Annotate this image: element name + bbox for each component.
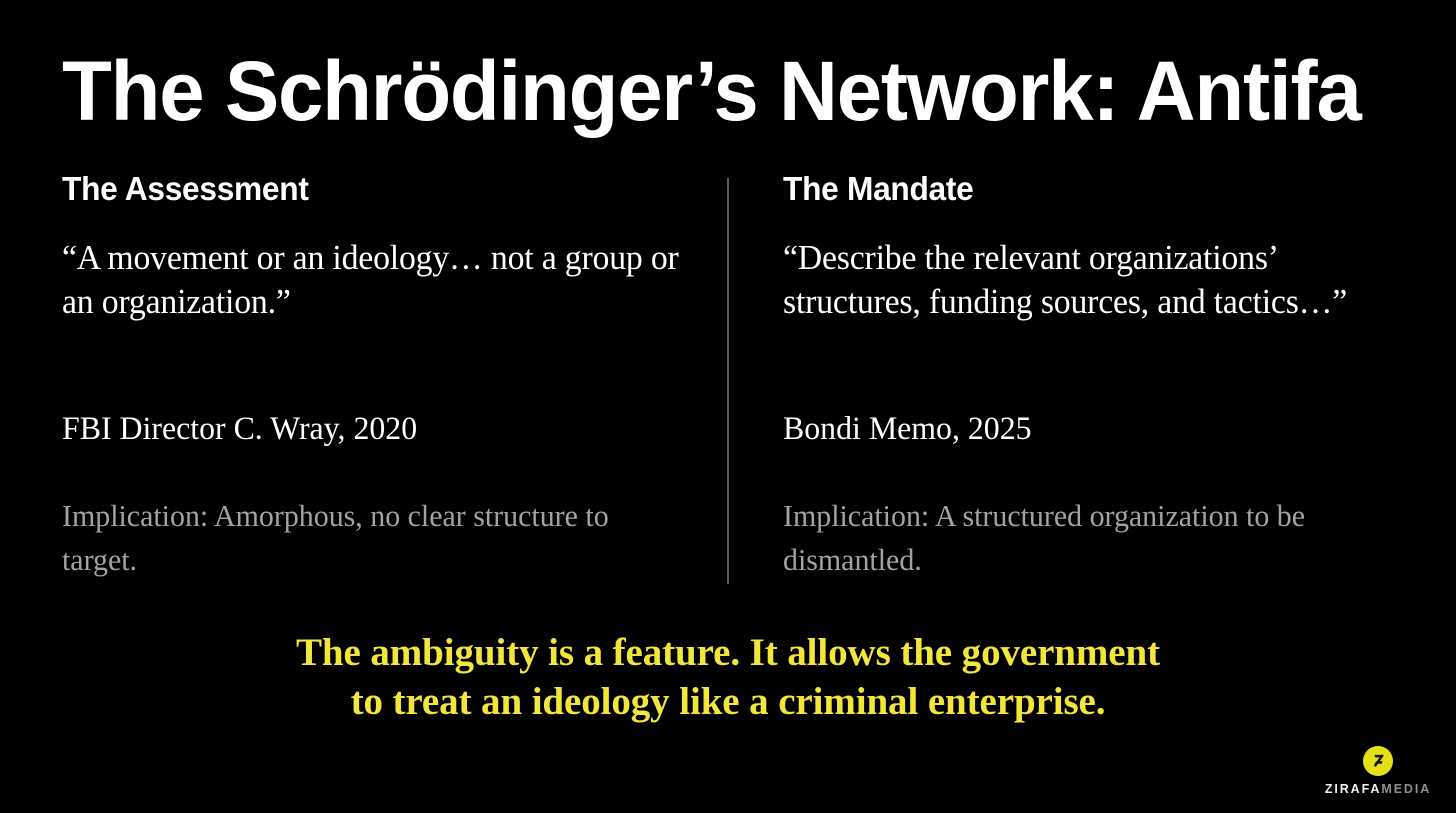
brand-wordmark-secondary: MEDIA xyxy=(1381,782,1431,796)
conclusion-line-2: to treat an ideology like a criminal ent… xyxy=(0,677,1456,726)
column-quote-mandate: “Describe the relevant organizations’ st… xyxy=(783,236,1381,324)
conclusion-statement: The ambiguity is a feature. It allows th… xyxy=(0,628,1456,726)
column-divider xyxy=(727,178,729,584)
page-title: The Schrödinger’s Network: Antifa xyxy=(62,50,1362,132)
column-implication-assessment: Implication: Amorphous, no clear structu… xyxy=(62,494,641,582)
column-heading-mandate: The Mandate xyxy=(783,172,1378,207)
brand-wordmark: ZIRAFAMEDIA xyxy=(1325,783,1431,796)
column-attribution-mandate: Bondi Memo, 2025 xyxy=(783,410,1032,450)
column-attribution-assessment: FBI Director C. Wray, 2020 xyxy=(62,410,417,450)
presentation-slide: The Schrödinger’s Network: Antifa The As… xyxy=(0,0,1456,813)
zirafa-z-mark-icon xyxy=(1363,746,1393,776)
comparison-columns: The Assessment “A movement or an ideolog… xyxy=(0,172,1456,592)
column-assessment: The Assessment “A movement or an ideolog… xyxy=(62,172,702,324)
column-quote-assessment: “A movement or an ideology… not a group … xyxy=(62,236,680,324)
brand-wordmark-primary: ZIRAFA xyxy=(1325,782,1382,796)
column-implication-mandate: Implication: A structured organization t… xyxy=(783,494,1362,582)
brand-logo: ZIRAFAMEDIA xyxy=(1318,746,1438,796)
column-heading-assessment: The Assessment xyxy=(62,172,676,207)
conclusion-line-1: The ambiguity is a feature. It allows th… xyxy=(0,628,1456,677)
column-mandate: The Mandate “Describe the relevant organ… xyxy=(783,172,1403,324)
